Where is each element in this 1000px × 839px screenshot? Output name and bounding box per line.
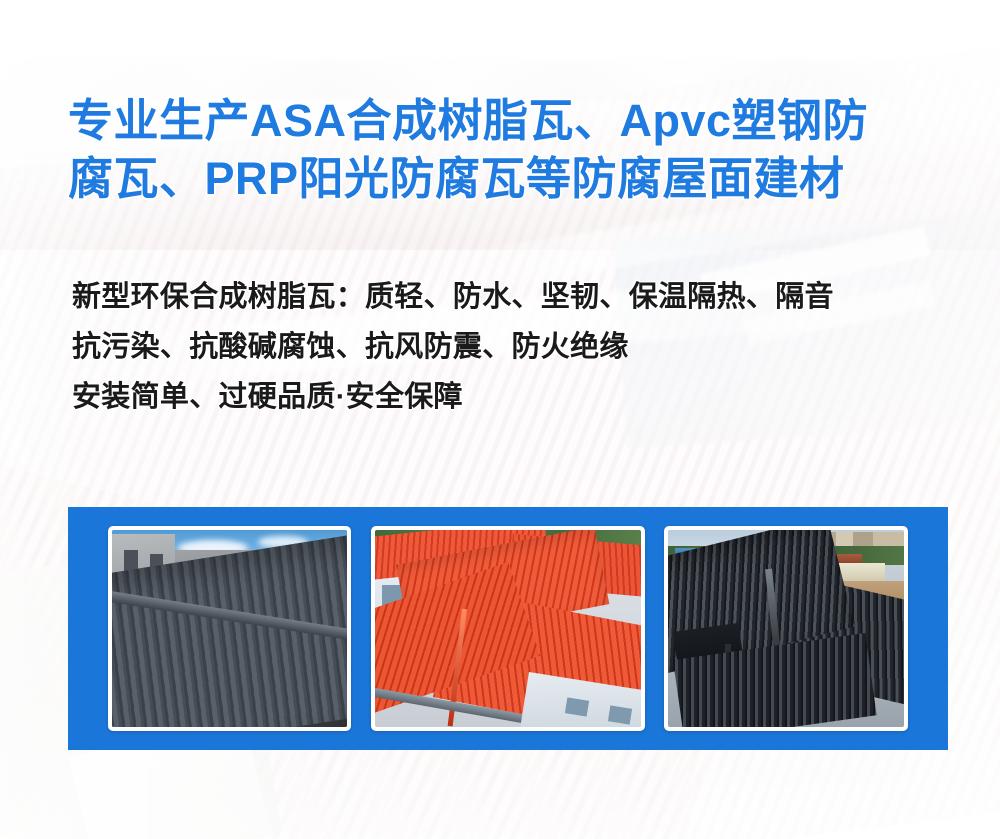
black-roof-photo-canvas	[668, 530, 904, 727]
promo-banner: 专业生产ASA合成树脂瓦、Apvc塑钢防 腐瓦、PRP阳光防腐瓦等防腐屋面建材 …	[0, 0, 1000, 839]
headline-block: 专业生产ASA合成树脂瓦、Apvc塑钢防 腐瓦、PRP阳光防腐瓦等防腐屋面建材	[68, 92, 948, 208]
red-roof-photo-canvas	[375, 530, 641, 727]
subheadline-block: 新型环保合成树脂瓦：质轻、防水、坚韧、保温隔热、隔音 抗污染、抗酸碱腐蚀、抗风防…	[72, 272, 962, 422]
headline-line-1: 专业生产ASA合成树脂瓦、Apvc塑钢防	[68, 92, 948, 150]
product-photo-panel	[68, 507, 948, 750]
subheadline-line-2: 抗污染、抗酸碱腐蚀、抗风防震、防火绝缘	[72, 322, 962, 372]
gray-roof-photo-canvas	[112, 530, 347, 727]
banner-content: 专业生产ASA合成树脂瓦、Apvc塑钢防 腐瓦、PRP阳光防腐瓦等防腐屋面建材 …	[0, 0, 1000, 839]
red-resin-tile-roof-photo[interactable]	[371, 526, 645, 731]
subheadline-line-1: 新型环保合成树脂瓦：质轻、防水、坚韧、保温隔热、隔音	[72, 272, 962, 322]
gray-resin-tile-roof-photo[interactable]	[108, 526, 351, 731]
subheadline-line-3: 安装简单、过硬品质·安全保障	[72, 372, 962, 422]
black-resin-tile-roof-photo[interactable]	[664, 526, 908, 731]
headline-line-2: 腐瓦、PRP阳光防腐瓦等防腐屋面建材	[68, 150, 948, 208]
